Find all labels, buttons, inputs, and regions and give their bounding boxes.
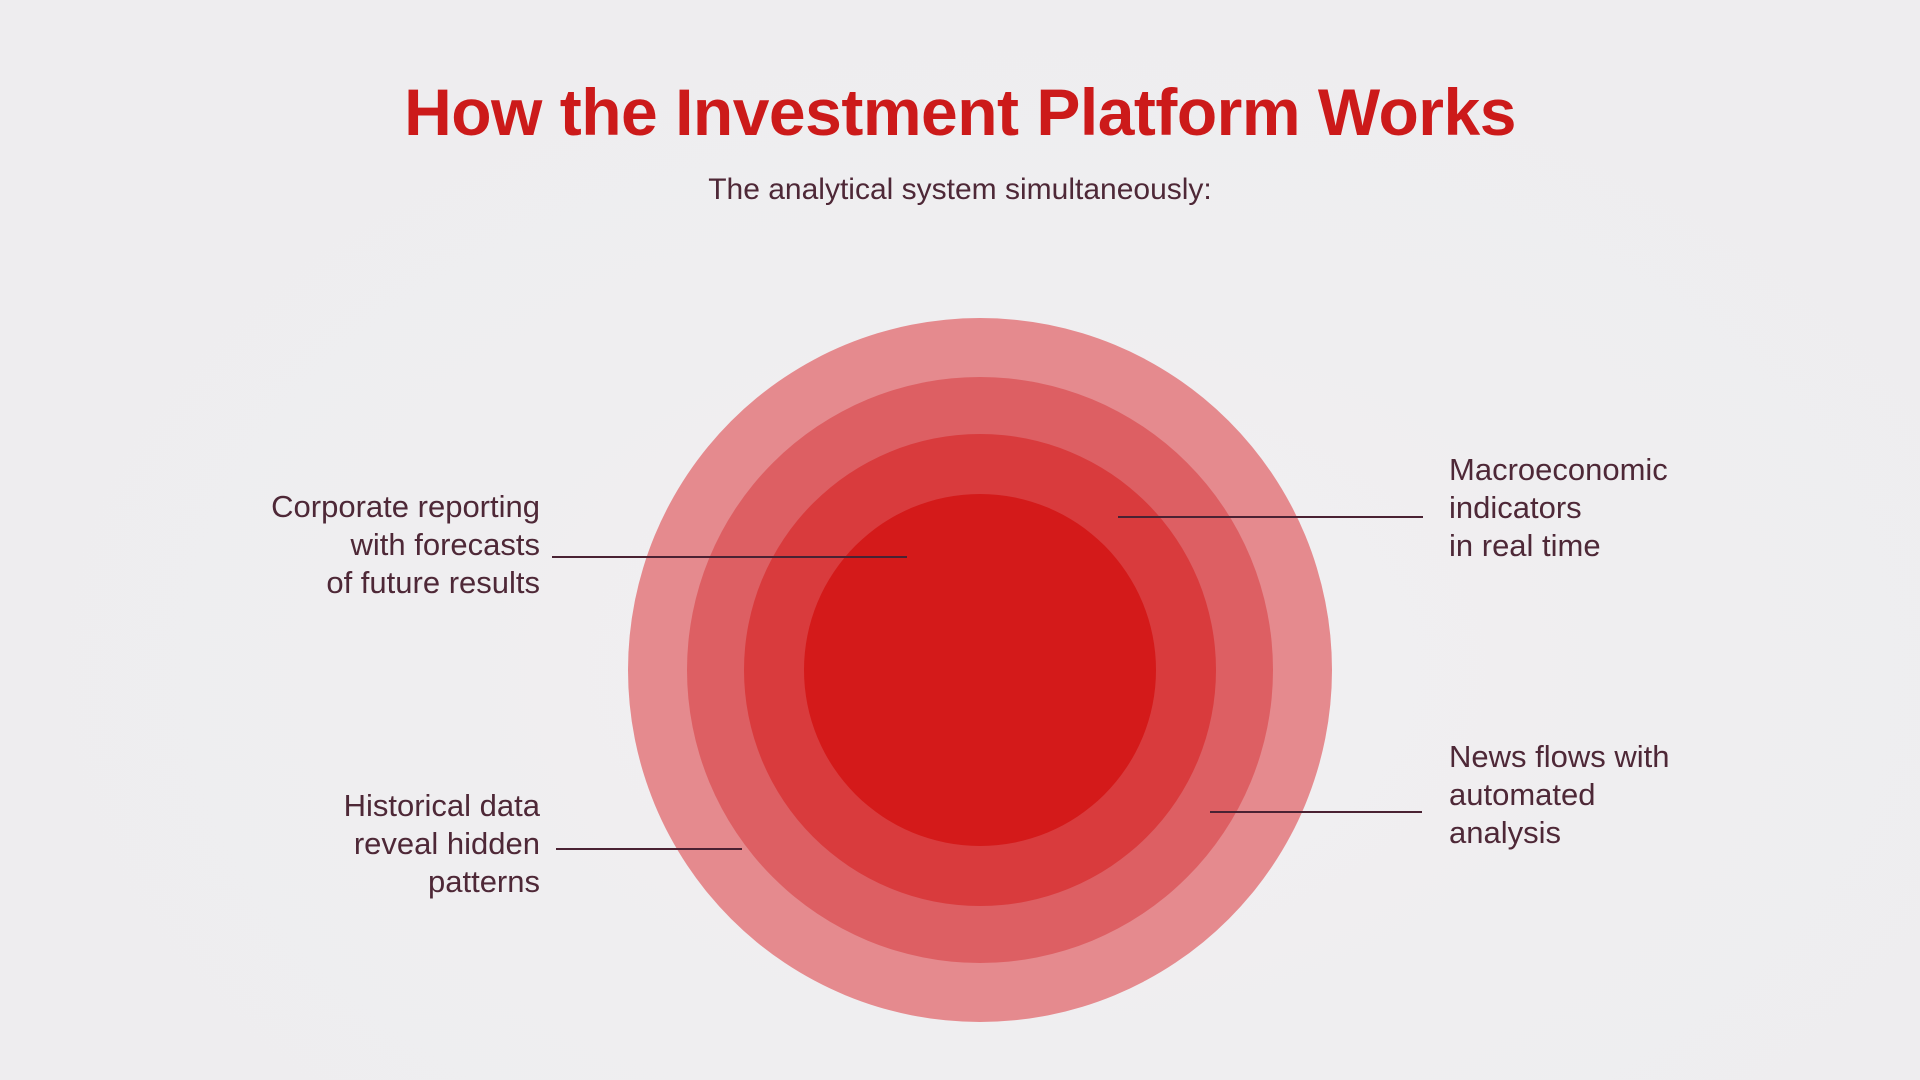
callout-label-historical-data: Historical data reveal hidden patterns bbox=[120, 787, 540, 901]
callout-label-macroeconomic-indicators: Macroeconomic indicators in real time bbox=[1449, 451, 1869, 565]
outer-ring bbox=[628, 318, 1332, 1022]
core-circle bbox=[804, 494, 1156, 846]
second-ring bbox=[687, 377, 1273, 963]
header: How the Investment Platform Works The an… bbox=[0, 78, 1920, 206]
connector-line-top-left bbox=[552, 556, 907, 558]
slide-canvas: How the Investment Platform Works The an… bbox=[0, 0, 1920, 1080]
connector-line-top-right bbox=[1118, 516, 1423, 518]
connector-line-bottom-left bbox=[556, 848, 742, 850]
connector-line-bottom-right bbox=[1210, 811, 1422, 813]
page-title: How the Investment Platform Works bbox=[0, 78, 1920, 147]
callout-label-news-flows: News flows with automated analysis bbox=[1449, 738, 1869, 852]
page-subtitle: The analytical system simultaneously: bbox=[0, 173, 1920, 206]
callout-label-corporate-reporting: Corporate reporting with forecasts of fu… bbox=[120, 488, 540, 602]
third-ring bbox=[744, 434, 1216, 906]
